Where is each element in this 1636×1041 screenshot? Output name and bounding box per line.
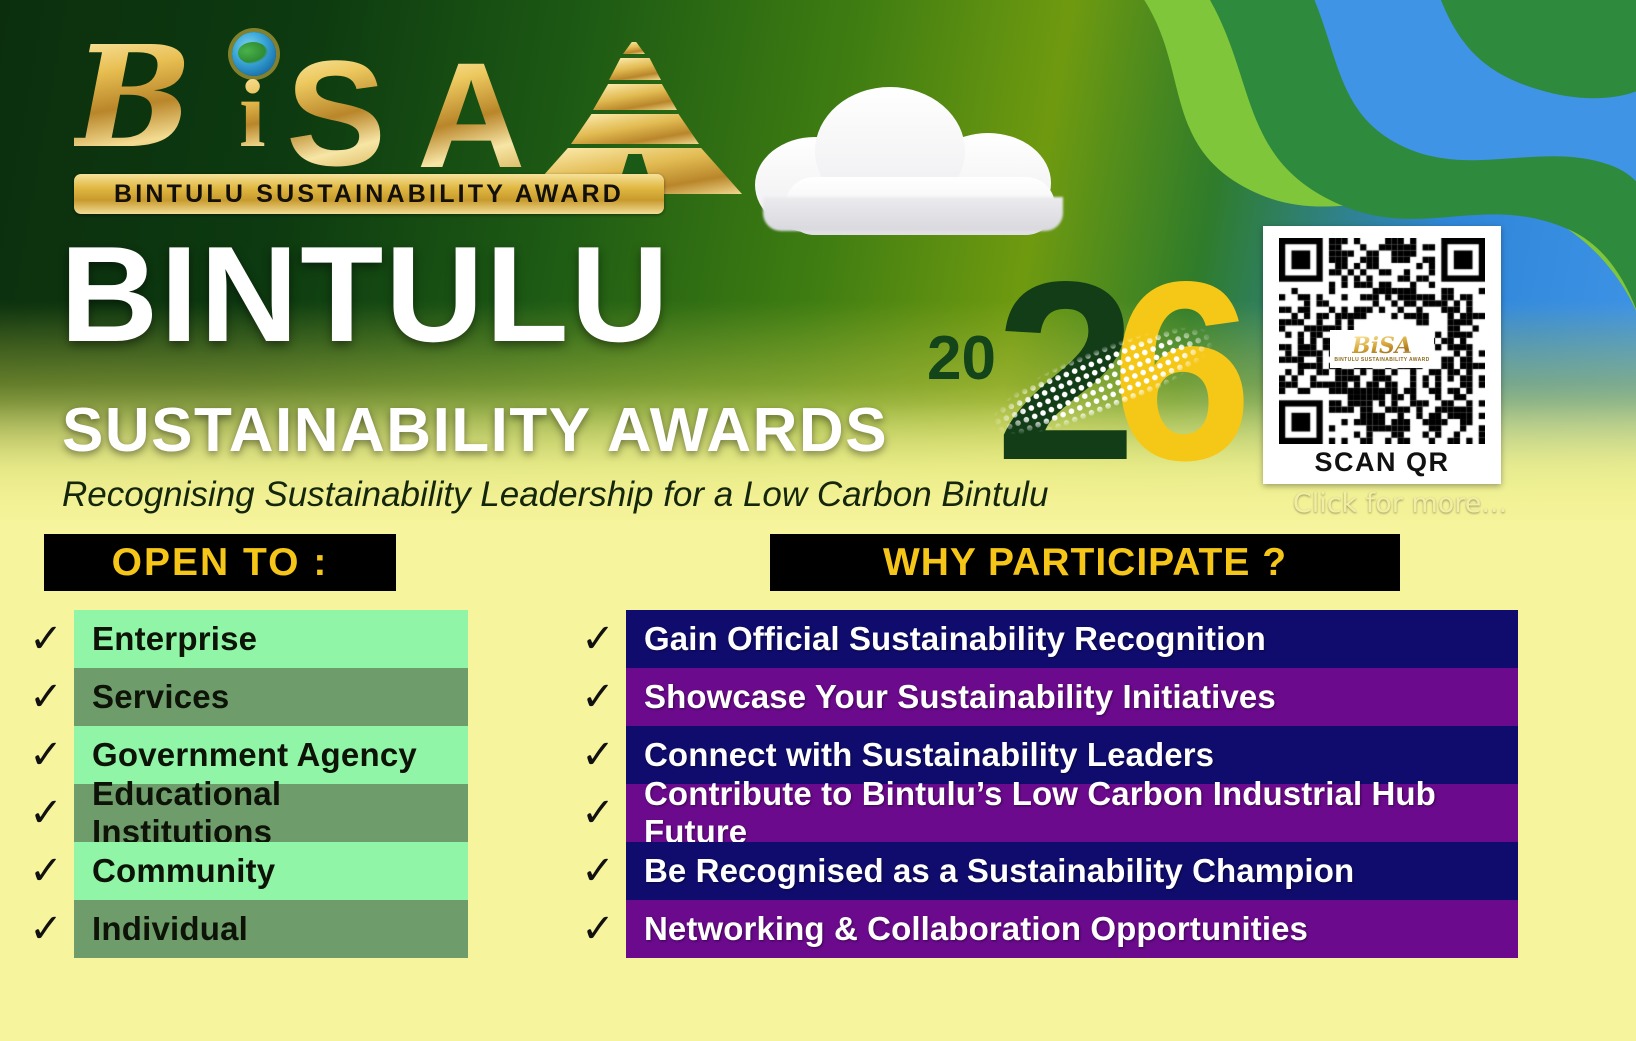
check-icon: ✓ — [570, 726, 626, 784]
logo-letter-b: B — [74, 28, 192, 168]
section-banner-why-participate: WHY PARTICIPATE ? — [770, 534, 1400, 591]
check-icon: ✓ — [18, 610, 74, 668]
why-participate-list: ✓Gain Official Sustainability Recognitio… — [570, 610, 1518, 958]
list-item-label: Community — [92, 852, 275, 890]
list-item: ✓Educational Institutions — [18, 784, 468, 842]
check-icon: ✓ — [18, 900, 74, 958]
check-icon: ✓ — [570, 900, 626, 958]
check-icon: ✓ — [570, 784, 626, 842]
year-prefix-20: 20 — [927, 328, 996, 390]
list-item: ✓Contribute to Bintulu’s Low Carbon Indu… — [570, 784, 1518, 842]
check-icon: ✓ — [18, 668, 74, 726]
check-icon: ✓ — [570, 610, 626, 668]
list-item-bar: Services — [74, 668, 468, 726]
section-banner-open-to: OPEN TO : — [44, 534, 396, 591]
list-item: ✓Enterprise — [18, 610, 468, 668]
list-item-label: Be Recognised as a Sustainability Champi… — [644, 852, 1354, 890]
open-to-list: ✓Enterprise✓Services✓Government Agency✓E… — [18, 610, 468, 958]
check-icon: ✓ — [570, 842, 626, 900]
tagline: Recognising Sustainability Leadership fo… — [62, 476, 1048, 514]
check-icon: ✓ — [570, 668, 626, 726]
check-icon: ✓ — [18, 842, 74, 900]
list-item-label: Connect with Sustainability Leaders — [644, 736, 1214, 774]
list-item-bar: Be Recognised as a Sustainability Champi… — [626, 842, 1518, 900]
logo-letter-s: S — [286, 38, 386, 188]
list-item-label: Gain Official Sustainability Recognition — [644, 620, 1266, 658]
list-item-label: Networking & Collaboration Opportunities — [644, 910, 1308, 948]
list-item: ✓Individual — [18, 900, 468, 958]
check-icon: ✓ — [18, 726, 74, 784]
list-item-label: Educational Institutions — [92, 775, 468, 851]
list-item-bar: Gain Official Sustainability Recognition — [626, 610, 1518, 668]
list-item: ✓Be Recognised as a Sustainability Champ… — [570, 842, 1518, 900]
bisa-logo: B i S A BINTULU SUSTAINABILITY AWARD — [72, 22, 672, 217]
list-item: ✓Gain Official Sustainability Recognitio… — [570, 610, 1518, 668]
list-item: ✓Networking & Collaboration Opportunitie… — [570, 900, 1518, 958]
list-item-label: Government Agency — [92, 736, 417, 774]
list-item-bar: Community — [74, 842, 468, 900]
lng-tower-icon — [527, 42, 742, 194]
year-digit-6: 6 — [1111, 244, 1253, 499]
section-banner-why-participate-label: WHY PARTICIPATE ? — [883, 541, 1287, 585]
list-item-bar: Enterprise — [74, 610, 468, 668]
qr-embedded-logo-text: BiSA — [1352, 335, 1412, 357]
list-item-label: Enterprise — [92, 620, 257, 658]
bisa-logo-mark: B i S A — [72, 22, 672, 172]
check-icon: ✓ — [18, 784, 74, 842]
list-item-bar: Individual — [74, 900, 468, 958]
list-item-bar: Contribute to Bintulu’s Low Carbon Indus… — [626, 784, 1518, 842]
logo-letter-a: A — [417, 40, 525, 190]
list-item-label: Showcase Your Sustainability Initiatives — [644, 678, 1276, 716]
section-banner-open-to-label: OPEN TO : — [112, 541, 329, 585]
list-item-bar: Educational Institutions — [74, 784, 468, 842]
page-subtitle: SUSTAINABILITY AWARDS — [62, 400, 888, 462]
list-item-bar: Showcase Your Sustainability Initiatives — [626, 668, 1518, 726]
list-item: ✓Community — [18, 842, 468, 900]
page-title: BINTULU — [60, 226, 671, 362]
year-2026-graphic: 2 6 20 — [915, 232, 1225, 512]
cloud-decoration — [755, 85, 1085, 230]
list-item-label: Services — [92, 678, 229, 716]
logo-ribbon: BINTULU SUSTAINABILITY AWARD — [74, 174, 664, 214]
list-item-bar: Networking & Collaboration Opportunities — [626, 900, 1518, 958]
poster-root: B i S A BINTULU SUSTAINABILITY AWARD BIN… — [0, 0, 1636, 1041]
list-item: ✓Services — [18, 668, 468, 726]
qr-embedded-logo-subtext: BINTULU SUSTAINABILITY AWARD — [1334, 357, 1429, 363]
list-item-label: Individual — [92, 910, 248, 948]
scan-qr-label: SCAN QR — [1263, 447, 1501, 478]
list-item-label: Contribute to Bintulu’s Low Carbon Indus… — [644, 775, 1518, 851]
click-for-more-link[interactable]: Click for more... — [1270, 488, 1530, 519]
logo-ribbon-text: BINTULU SUSTAINABILITY AWARD — [114, 180, 624, 209]
qr-embedded-logo: BiSA BINTULU SUSTAINABILITY AWARD — [1330, 330, 1434, 368]
list-item: ✓Showcase Your Sustainability Initiative… — [570, 668, 1518, 726]
qr-code-card[interactable]: BiSA BINTULU SUSTAINABILITY AWARD SCAN Q… — [1263, 226, 1501, 484]
logo-letter-i: i — [239, 66, 266, 162]
